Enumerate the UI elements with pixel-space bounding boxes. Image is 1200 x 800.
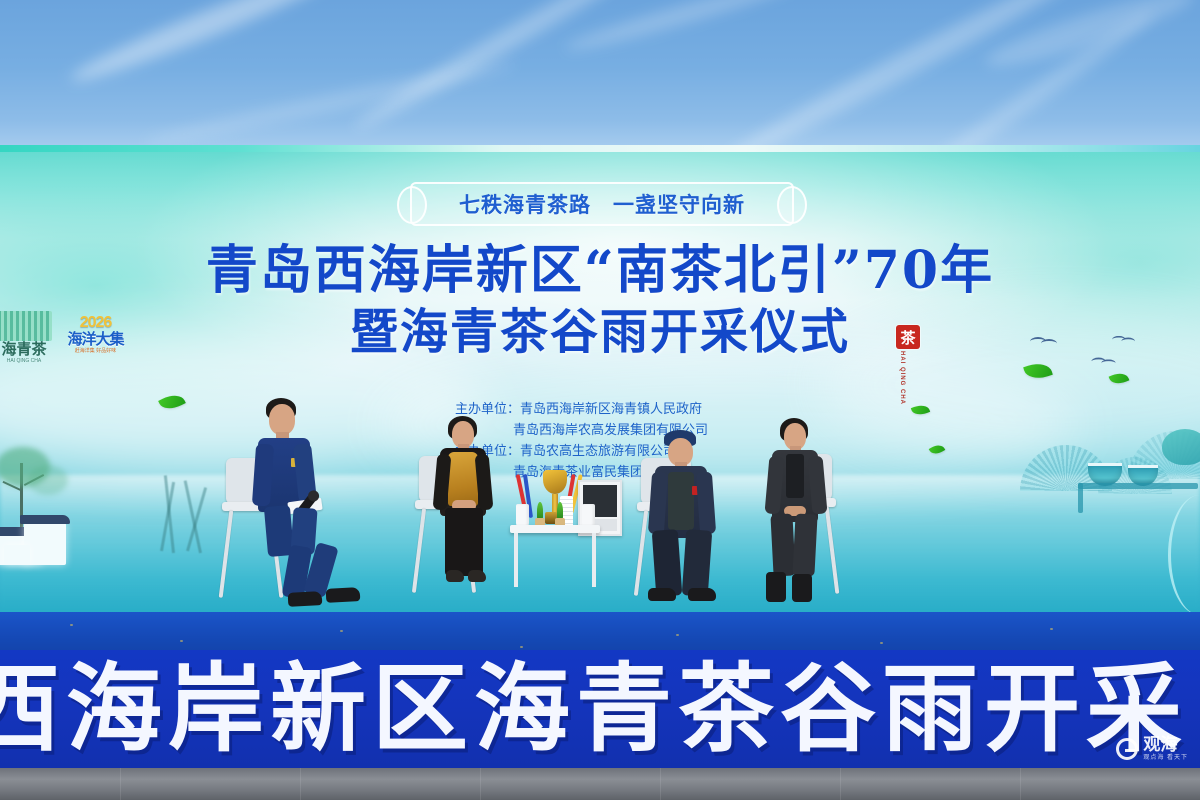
village-illustration bbox=[0, 445, 224, 615]
organizer-block: 主办单位：青岛西海岸新区海青镇人民政府 青岛西海岸农高发展集团有限公司 承办单位… bbox=[455, 398, 795, 482]
cloud bbox=[142, 56, 517, 151]
watermark: 观海 观点海 看天下 bbox=[1116, 736, 1188, 762]
photo-scene: 海青茶 HAI QING CHA 2026 海洋大集 赶海洋集 好品好味 七秩海… bbox=[0, 0, 1200, 800]
organizer-line: 承办单位：青岛农高生态旅游有限公司 bbox=[455, 440, 795, 461]
event-title: 青岛西海岸新区“南茶北引”70年 暨海青茶谷雨开采仪式 bbox=[0, 240, 1200, 362]
sky bbox=[0, 0, 1200, 150]
stage-front-banner: 西海岸新区海青茶谷雨开采 bbox=[0, 650, 1200, 770]
seal-pinyin: HAI QING CHA bbox=[898, 351, 905, 405]
seal-char: 茶 bbox=[900, 327, 915, 348]
ground-pavement bbox=[0, 768, 1200, 800]
subtitle-ribbon: 七秩海青茶路 一盏坚守向新 bbox=[410, 182, 794, 226]
organizer-line: 青岛海青茶业富民集团 bbox=[455, 461, 795, 482]
organizer-line: 主办单位：青岛西海岸新区海青镇人民政府 bbox=[455, 398, 795, 419]
title-line-1: 青岛西海岸新区“南茶北引”70年 bbox=[0, 240, 1200, 302]
cloud bbox=[562, 0, 807, 57]
organizer-line: 青岛西海岸农高发展集团有限公司 bbox=[455, 419, 795, 440]
cloud bbox=[66, 0, 354, 91]
watermark-tagline: 观点海 看天下 bbox=[1143, 754, 1188, 762]
display-table bbox=[510, 525, 600, 587]
title-line-2: 暨海青茶谷雨开采仪式 bbox=[0, 302, 1200, 362]
g-logo-icon bbox=[1116, 738, 1138, 760]
banner-text: 西海岸新区海青茶谷雨开采 bbox=[0, 658, 1188, 762]
cloud bbox=[349, 0, 671, 137]
watermark-name: 观海 bbox=[1143, 736, 1188, 754]
tea-seal-stamp: 茶 bbox=[896, 325, 920, 349]
subtitle-text: 七秩海青茶路 一盏坚守向新 bbox=[459, 189, 745, 219]
backdrop-top-edge bbox=[0, 145, 1200, 152]
